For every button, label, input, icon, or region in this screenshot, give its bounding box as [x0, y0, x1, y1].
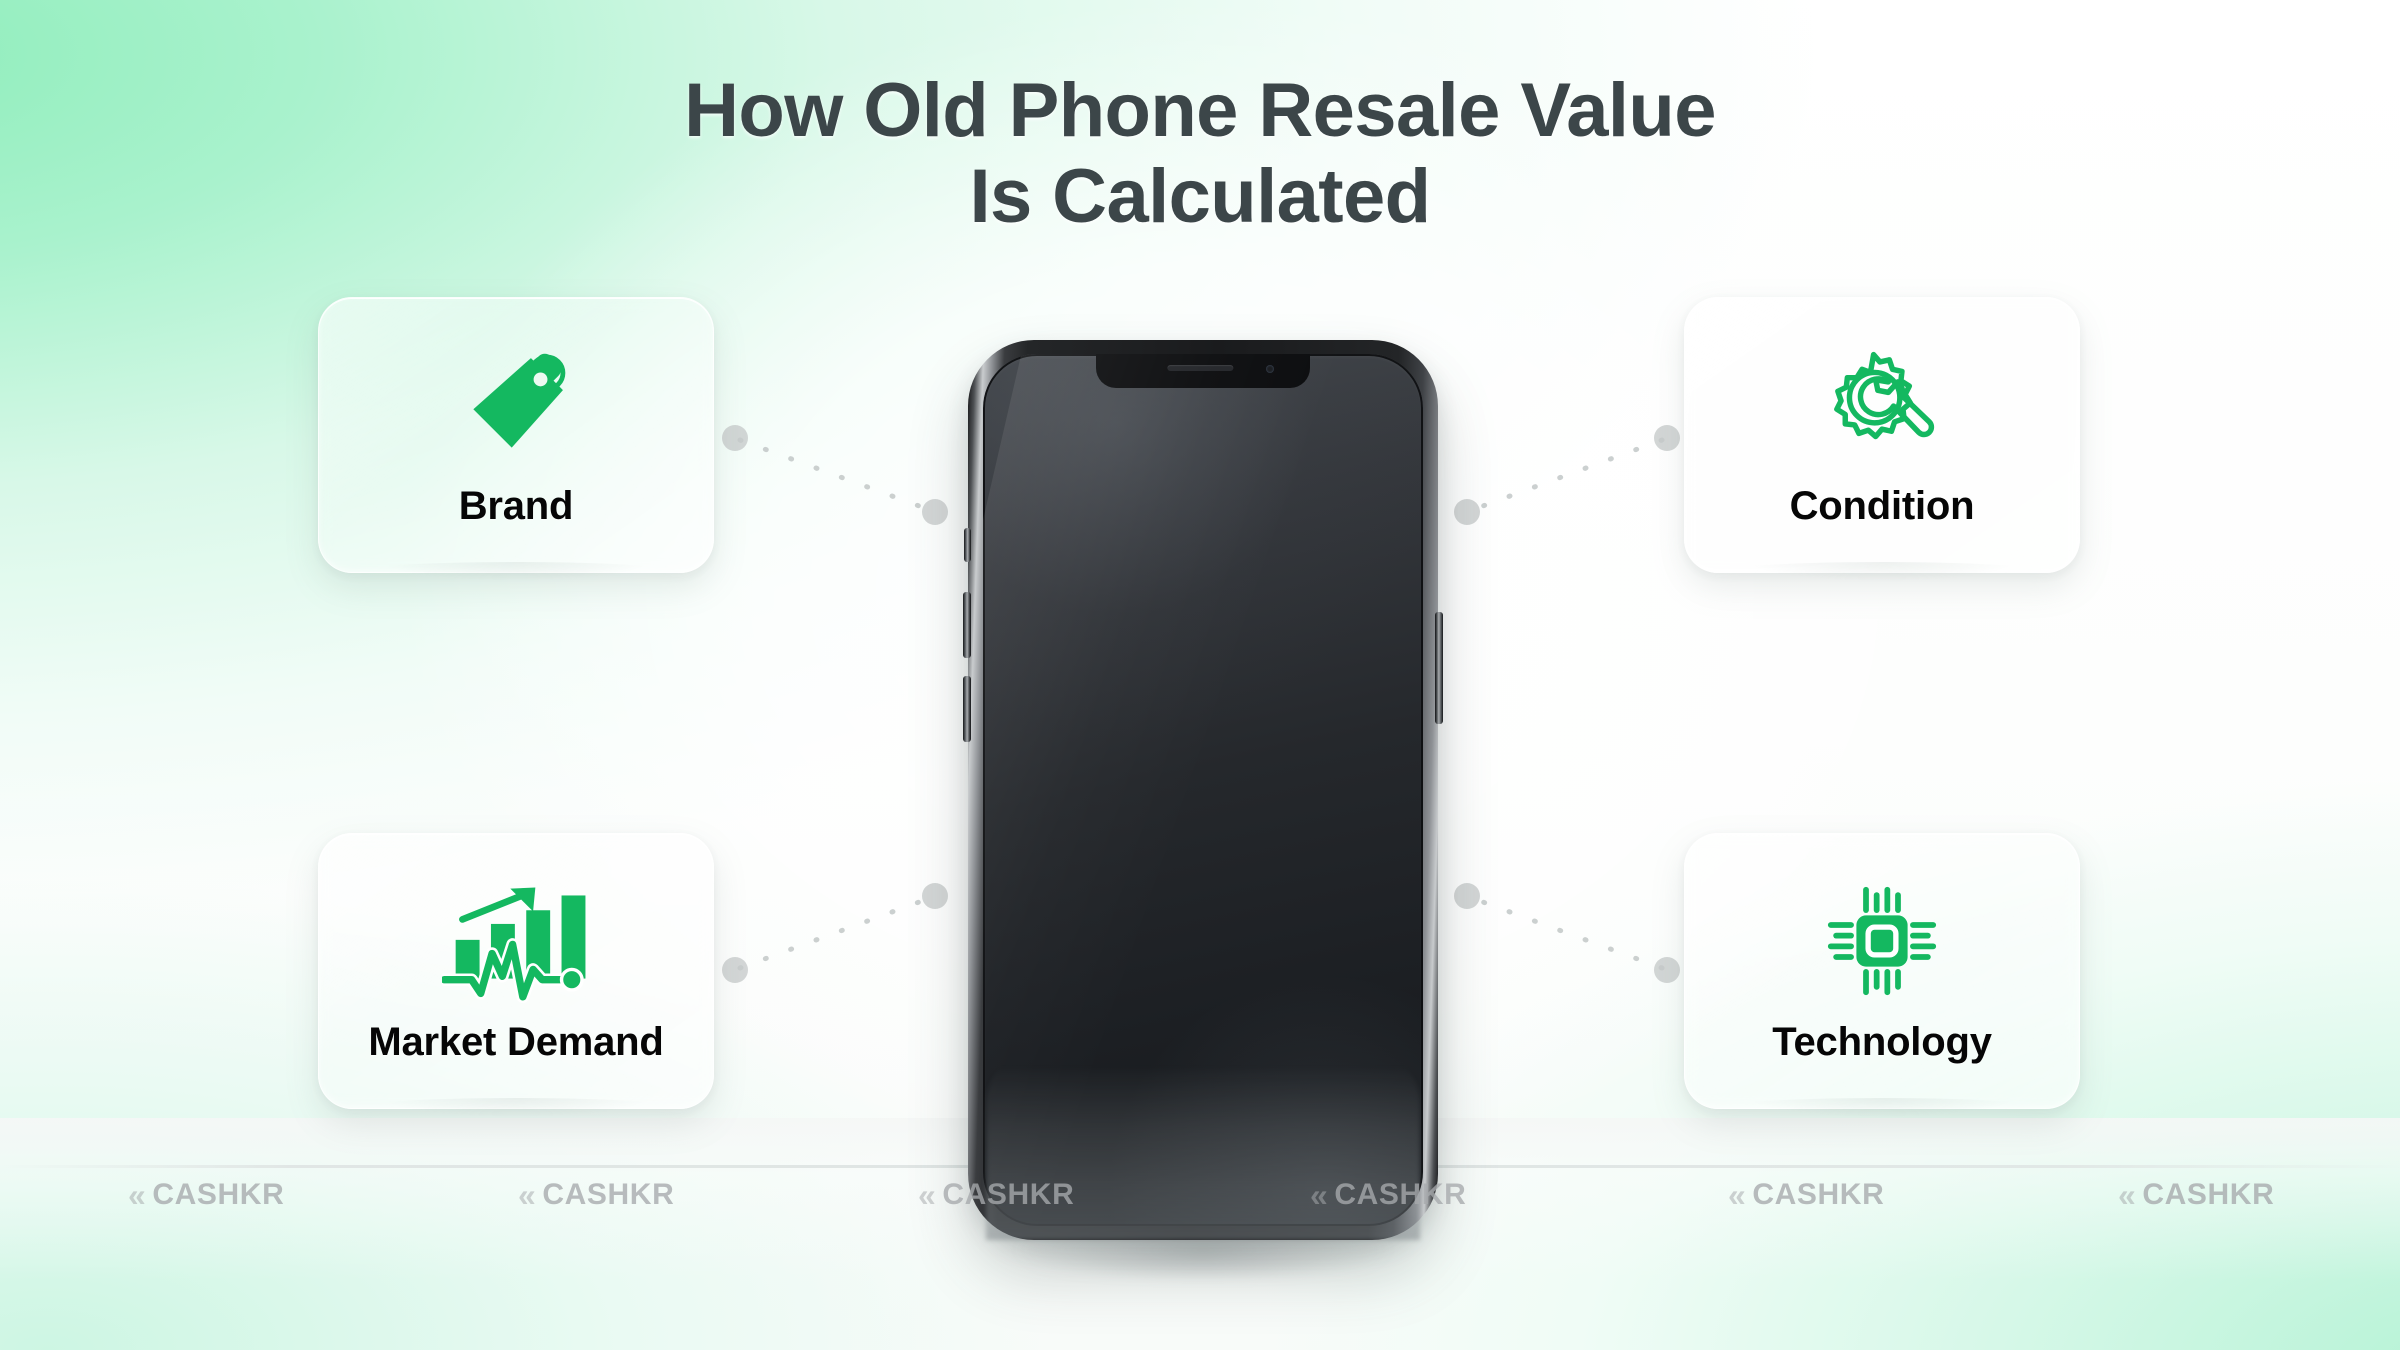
phone-screen[interactable] [983, 354, 1423, 1226]
watermark-text: CASHKR [2142, 1178, 2274, 1212]
microchip-icon [1807, 872, 1957, 1010]
factor-card-market-demand[interactable]: Market Demand [318, 833, 714, 1109]
phone-notch [1096, 354, 1310, 388]
connector-dot-technology-end [1454, 883, 1480, 909]
watermark-band: « CASHKR « CASHKR « CASHKR « CASHKR « CA… [0, 1178, 2400, 1250]
phone-body [968, 340, 1438, 1240]
connector-dot-condition-end [1454, 499, 1480, 525]
connector-dot-brand-end [922, 499, 948, 525]
factor-card-label: Market Demand [368, 1020, 663, 1065]
chevron-left-icon: « [1310, 1179, 1328, 1211]
connector-dot-condition-start [1654, 425, 1680, 451]
connector-condition-to-phone [1472, 440, 1662, 510]
factor-card-brand[interactable]: Brand [318, 297, 714, 573]
factor-card-label: Technology [1772, 1020, 1992, 1065]
factor-card-label: Brand [459, 484, 574, 529]
watermark-text: CASHKR [942, 1178, 1074, 1212]
connector-dot-market-start [722, 957, 748, 983]
gear-wrench-icon [1807, 336, 1957, 474]
mute-switch[interactable] [964, 528, 971, 562]
connector-market-demand-to-phone [740, 898, 930, 968]
chevron-left-icon: « [918, 1179, 936, 1211]
connector-technology-to-phone [1472, 898, 1662, 968]
factor-card-technology[interactable]: Technology [1684, 833, 2080, 1109]
watermark: « CASHKR [1728, 1178, 1884, 1212]
earpiece-speaker [1167, 365, 1233, 371]
factor-card-label: Condition [1790, 484, 1975, 529]
connector-brand-to-phone [740, 440, 930, 510]
watermark: « CASHKR [128, 1178, 284, 1212]
volume-down-button[interactable] [963, 676, 971, 742]
chevron-left-icon: « [518, 1179, 536, 1211]
price-tag-icon [441, 336, 591, 474]
watermark: « CASHKR [2118, 1178, 2274, 1212]
front-camera-icon [1266, 365, 1274, 373]
watermark: « CASHKR [1310, 1178, 1466, 1212]
connector-dot-market-end [922, 883, 948, 909]
chevron-left-icon: « [2118, 1179, 2136, 1211]
watermark: « CASHKR [518, 1178, 674, 1212]
chevron-left-icon: « [1728, 1179, 1746, 1211]
watermark-text: CASHKR [152, 1178, 284, 1212]
infographic-canvas: How Old Phone Resale Value Is Calculated [0, 0, 2400, 1350]
watermark-text: CASHKR [542, 1178, 674, 1212]
screen-glare [983, 354, 1368, 1226]
connector-dot-brand-start [722, 425, 748, 451]
watermark-text: CASHKR [1752, 1178, 1884, 1212]
power-button[interactable] [1435, 612, 1443, 724]
watermark-text: CASHKR [1334, 1178, 1466, 1212]
chevron-left-icon: « [128, 1179, 146, 1211]
connector-dot-technology-start [1654, 957, 1680, 983]
bar-chart-growth-icon [441, 872, 591, 1010]
phone-mockup [960, 340, 1450, 1240]
factor-card-condition[interactable]: Condition [1684, 297, 2080, 573]
watermark: « CASHKR [918, 1178, 1074, 1212]
volume-up-button[interactable] [963, 592, 971, 658]
